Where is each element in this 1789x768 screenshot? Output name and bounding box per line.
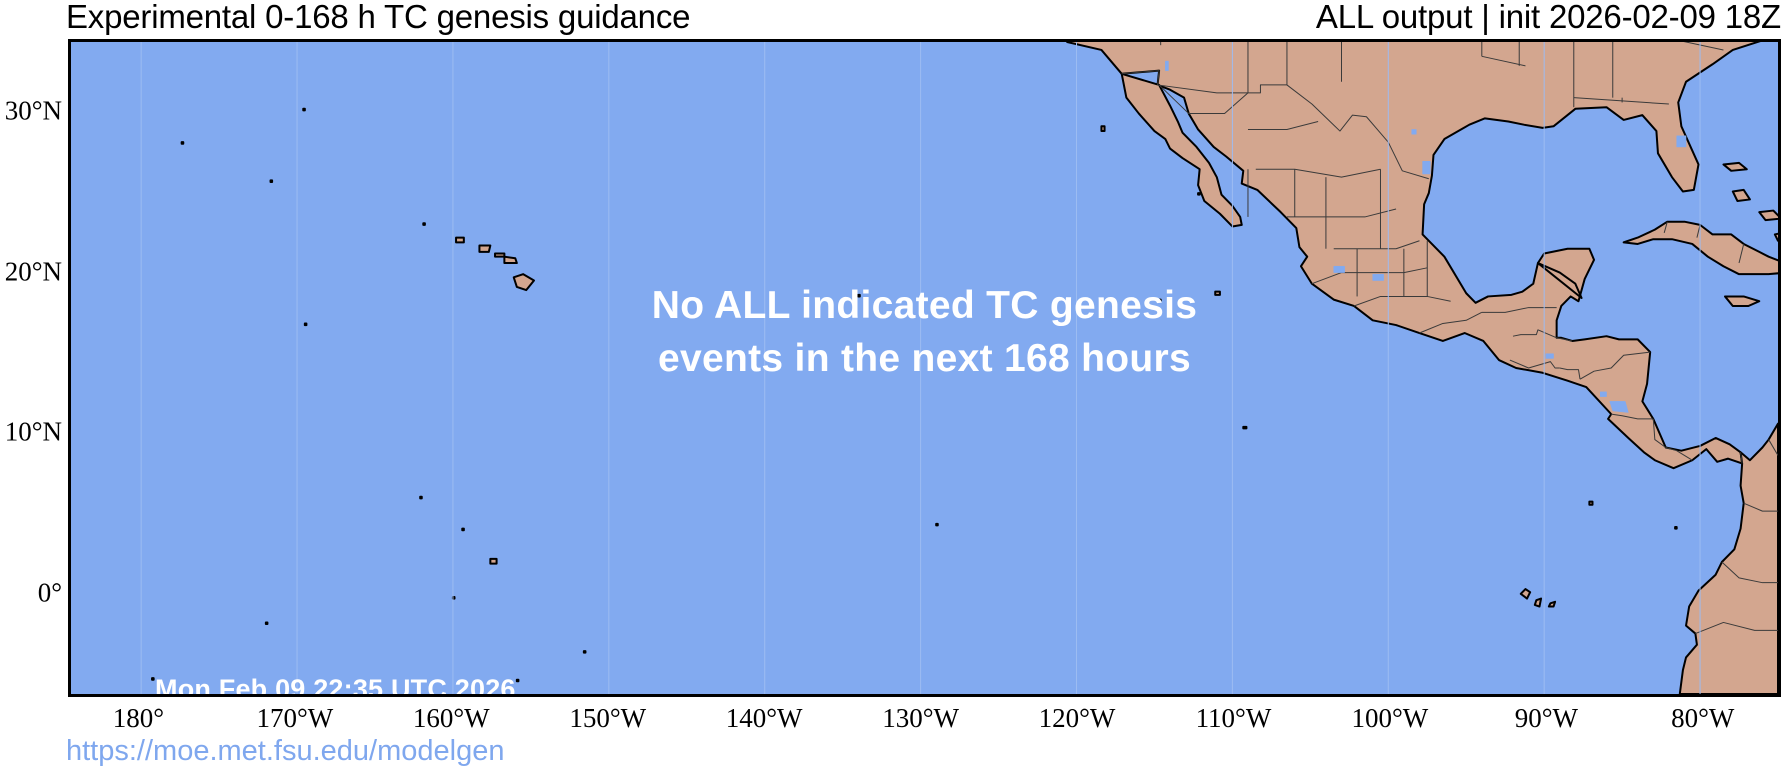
x-tick-label: 110°W (1196, 703, 1272, 734)
landmass-clipperton (1243, 427, 1246, 429)
x-tick-label: 150°W (569, 703, 646, 734)
landmass-galapagos1 (1521, 589, 1530, 599)
inland-water (1423, 161, 1431, 174)
landmass-hawaii_molokai (495, 254, 504, 257)
x-tick-label: 80°W (1671, 703, 1734, 734)
no-genesis-line-2: events in the next 168 hours (71, 333, 1778, 386)
no-genesis-message: No ALL indicated TC genesis events in th… (71, 280, 1778, 385)
page-title: Experimental 0-168 h TC genesis guidance (66, 0, 690, 36)
landmass-palmyra (420, 497, 422, 499)
x-tick-label: 180° (113, 703, 164, 734)
landmass-laysan (271, 180, 273, 182)
landmass-guadalupe (1101, 126, 1104, 131)
source-url-link[interactable]: https://moe.met.fsu.edu/modelgen (66, 735, 504, 768)
landmass-sdot5 (152, 678, 154, 680)
timestamp-label: Mon Feb 09 22:35 UTC 2026 (155, 674, 516, 697)
header-model-init: ALL output | init 2026-02-09 18Z (1316, 0, 1781, 36)
inland-water (1677, 136, 1686, 147)
landmass-sdot1 (584, 651, 586, 653)
x-tick-label: 170°W (256, 703, 333, 734)
landmass-sdot4 (936, 524, 938, 526)
landmass-bahamas1 (1723, 163, 1746, 171)
landmass-kiritimati (490, 559, 496, 564)
x-tick-label: 120°W (1039, 703, 1116, 734)
landmass-jarvis (453, 597, 455, 599)
landmass-sdot3 (303, 109, 305, 111)
x-tick-label: 130°W (882, 703, 959, 734)
inland-water (1334, 266, 1345, 272)
landmass-midway (182, 142, 184, 144)
landmass-socorro2 (1198, 193, 1200, 195)
landmass-bahamas3 (1759, 211, 1778, 221)
landmass-hawaii_oahu (479, 246, 490, 252)
landmass-cuba (1624, 222, 1778, 274)
tc-genesis-guidance-page: Experimental 0-168 h TC genesis guidance… (0, 0, 1789, 768)
x-tick-label: 90°W (1515, 703, 1578, 734)
landmass-malpelo (1675, 527, 1677, 529)
landmass-galapagos3 (1549, 602, 1555, 607)
landmass-trinidad (1775, 233, 1778, 241)
landmass-starbuck (517, 680, 519, 682)
inland-water (1165, 61, 1168, 71)
y-tick-label: 20°N (5, 256, 62, 287)
landmass-samerica (1680, 424, 1778, 694)
x-tick-label: 160°W (413, 703, 490, 734)
inland-water (1412, 129, 1417, 134)
landmass-hawaii_kauai (456, 238, 464, 243)
header-bar: Experimental 0-168 h TC genesis guidance… (0, 0, 1789, 38)
landmass-namerica (1003, 42, 1778, 468)
landmass-galapagos2 (1535, 599, 1541, 607)
landmass-hawaii_maui (504, 257, 516, 263)
x-tick-label: 140°W (726, 703, 803, 734)
x-tick-label: 100°W (1352, 703, 1429, 734)
landmass-nihoa (423, 223, 425, 225)
inland-water (1600, 392, 1606, 397)
landmass-fanning (462, 529, 464, 531)
y-tick-label: 10°N (5, 417, 62, 448)
landmass-cocos (1589, 502, 1592, 505)
landmass-bahamas2 (1733, 190, 1750, 201)
landmass-sdot6 (266, 622, 268, 624)
map-plot-area[interactable]: No ALL indicated TC genesis events in th… (68, 39, 1781, 697)
y-tick-label: 30°N (5, 96, 62, 127)
y-tick-label: 0° (38, 577, 62, 608)
no-genesis-line-1: No ALL indicated TC genesis (71, 280, 1778, 333)
